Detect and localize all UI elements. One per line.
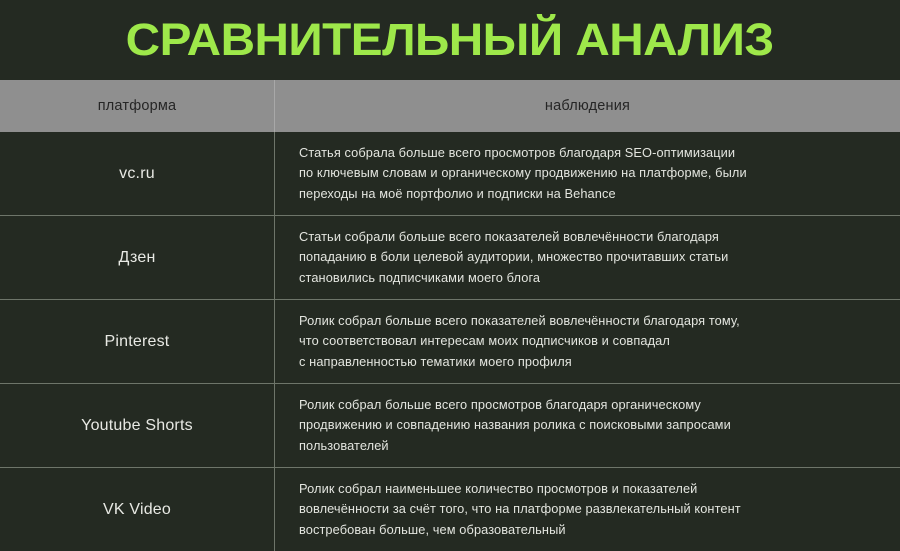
cell-notes: Ролик собрал наименьшее количество просм… <box>275 468 900 551</box>
note-text: Ролик собрал больше всего просмотров бла… <box>299 395 731 457</box>
cell-notes: Статьи собрали больше всего показателей … <box>275 216 900 299</box>
column-header-notes: наблюдения <box>275 80 900 132</box>
cell-notes: Статья собрала больше всего просмотров б… <box>275 132 900 215</box>
cell-platform: Pinterest <box>0 300 275 383</box>
table-body: vc.ru Статья собрала больше всего просмо… <box>0 132 900 551</box>
note-text: Статьи собрали больше всего показателей … <box>299 227 728 289</box>
cell-notes: Ролик собрал больше всего просмотров бла… <box>275 384 900 467</box>
cell-platform: vc.ru <box>0 132 275 215</box>
cell-platform: Дзен <box>0 216 275 299</box>
table-header-row: платформа наблюдения <box>0 80 900 132</box>
table-row: Youtube Shorts Ролик собрал больше всего… <box>0 383 900 467</box>
table-row: Pinterest Ролик собрал больше всего пока… <box>0 299 900 383</box>
column-header-platform: платформа <box>0 80 275 132</box>
cell-notes: Ролик собрал больше всего показателей во… <box>275 300 900 383</box>
table-row: VK Video Ролик собрал наименьшее количес… <box>0 467 900 551</box>
page-title: СРАВНИТЕЛЬНЫЙ АНАЛИЗ <box>126 17 774 63</box>
cell-platform: Youtube Shorts <box>0 384 275 467</box>
comparison-table: платформа наблюдения vc.ru Статья собрал… <box>0 80 900 551</box>
note-text: Ролик собрал больше всего показателей во… <box>299 311 740 373</box>
table-row: Дзен Статьи собрали больше всего показат… <box>0 215 900 299</box>
table-row: vc.ru Статья собрала больше всего просмо… <box>0 132 900 215</box>
cell-platform: VK Video <box>0 468 275 551</box>
title-bar: СРАВНИТЕЛЬНЫЙ АНАЛИЗ <box>0 0 900 80</box>
comparative-analysis-page: СРАВНИТЕЛЬНЫЙ АНАЛИЗ платформа наблюдени… <box>0 0 900 551</box>
note-text: Статья собрала больше всего просмотров б… <box>299 143 747 205</box>
note-text: Ролик собрал наименьшее количество просм… <box>299 479 741 541</box>
